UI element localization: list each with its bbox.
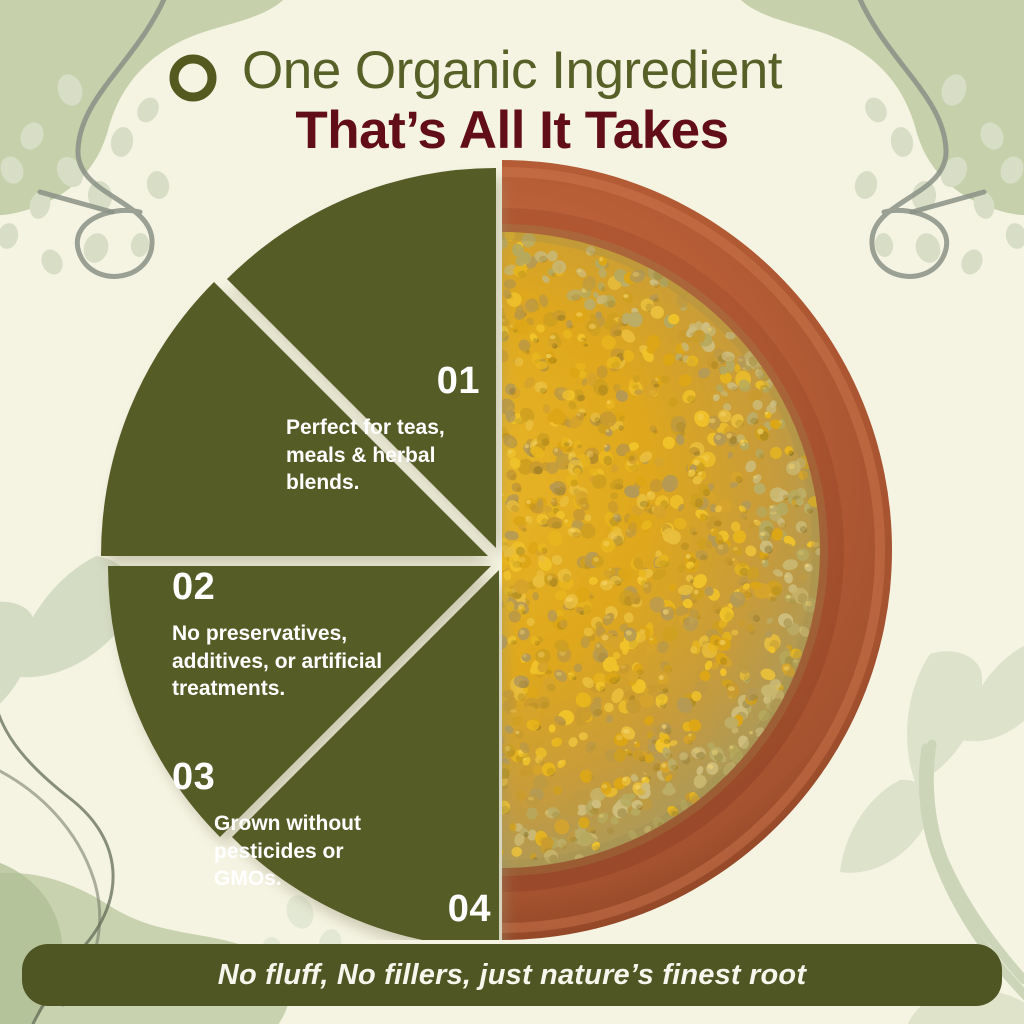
page-title: One Organic Ingredient That’s All It Tak…: [0, 42, 1024, 162]
bottom-banner: No fluff, No fillers, just nature’s fine…: [22, 944, 1002, 1006]
segment-02-text: No preservatives, additives, or artifici…: [172, 620, 432, 703]
segment-01-label: 01 Perfect for teas, meals & herbal blen…: [286, 362, 496, 497]
segment-02-label: 02 No preservatives, additives, or artif…: [172, 568, 432, 703]
segment-03-text: Grown without pesticides or GMOs.: [214, 810, 402, 893]
banner-text: No fluff, No fillers, just nature’s fine…: [218, 959, 806, 992]
segment-02-number: 02: [172, 568, 432, 606]
segment-03-label: 03 Grown without pesticides or GMOs.: [172, 758, 402, 893]
segment-04-number: 04: [300, 890, 495, 928]
segment-03-number: 03: [172, 758, 402, 796]
segment-01-number: 01: [286, 362, 496, 400]
pie-chart-segments: [0, 150, 1024, 940]
title-line-2: That’s All It Takes: [0, 101, 1024, 162]
infographic-canvas: One Organic Ingredient That’s All It Tak…: [0, 0, 1024, 1024]
segment-01-text: Perfect for teas, meals & herbal blends.: [286, 414, 496, 497]
title-line-1: One Organic Ingredient: [0, 42, 1024, 99]
pie-and-bowl-composition: 01 Perfect for teas, meals & herbal blen…: [0, 150, 1024, 940]
